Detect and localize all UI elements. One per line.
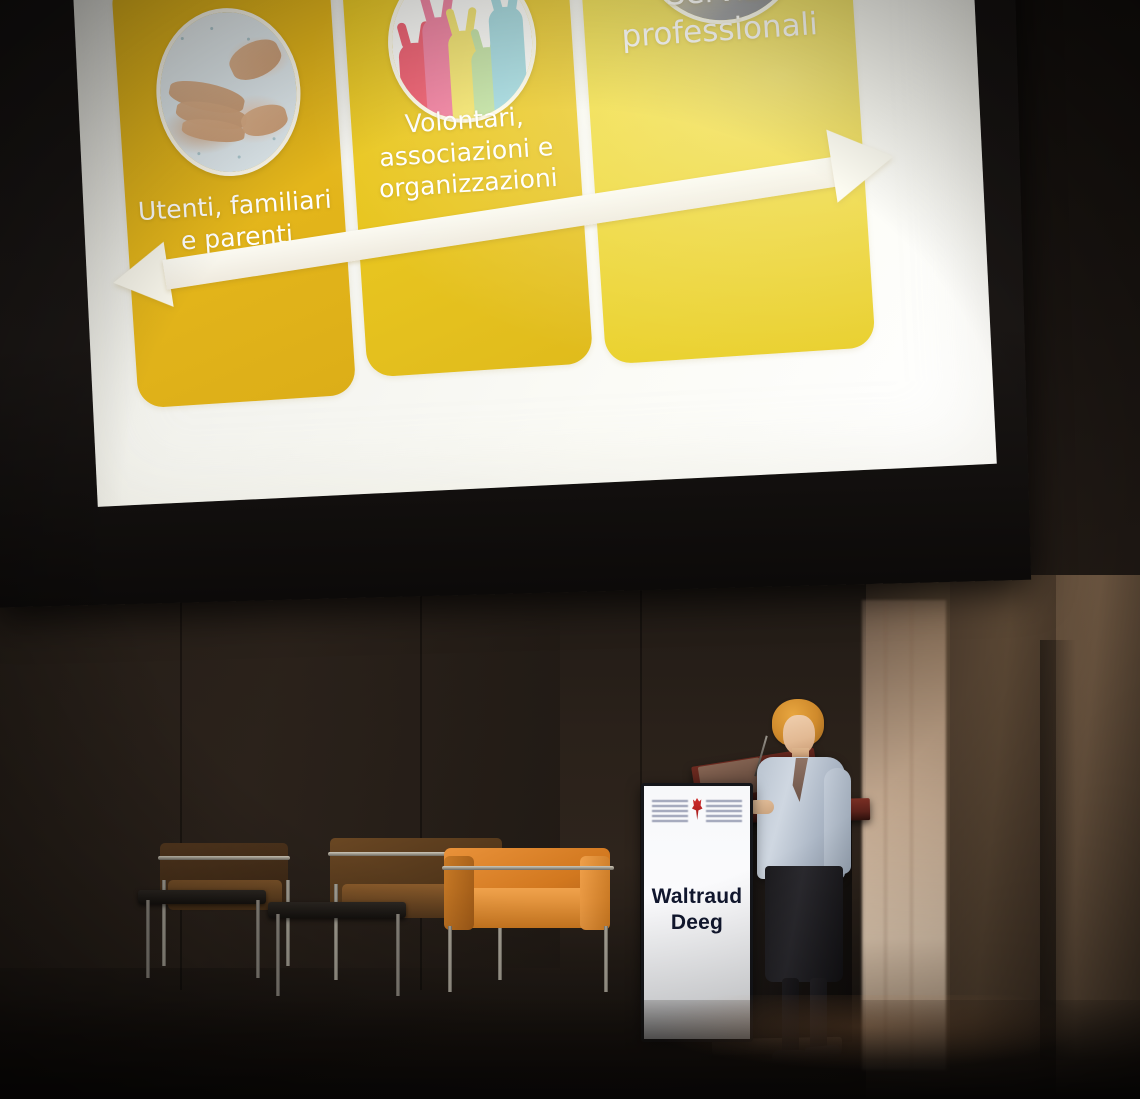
projection-screen-frame: I 3 PILASTRI DEL SOCIALE bbox=[0, 0, 1031, 608]
presentation-scene-photo: I 3 PILASTRI DEL SOCIALE bbox=[0, 0, 1140, 1099]
logo-text-right bbox=[706, 800, 742, 822]
projection-screen-surface: I 3 PILASTRI DEL SOCIALE bbox=[68, 0, 997, 507]
speaker-last-name: Deeg bbox=[644, 910, 750, 936]
heraldic-emblem-icon bbox=[691, 798, 703, 820]
presentation-slide: I 3 PILASTRI DEL SOCIALE bbox=[68, 0, 997, 507]
pillars-card-group: Utenti, familiari e parenti bbox=[68, 0, 997, 507]
logo-text-left bbox=[652, 800, 688, 822]
elderly-hands-photo bbox=[151, 4, 306, 181]
arrow-head-left-icon bbox=[108, 242, 173, 316]
wall-seam bbox=[180, 590, 182, 990]
stage-floor-reflection bbox=[560, 995, 1120, 1099]
pillar-card-3-label: Servizi professionali bbox=[581, 0, 856, 59]
wall-seam bbox=[420, 590, 422, 990]
speaker-first-name: Waltraud bbox=[644, 884, 750, 910]
organization-logo bbox=[644, 796, 750, 830]
speaker-skirt bbox=[765, 866, 843, 982]
arrow-head-right-icon bbox=[826, 120, 899, 203]
speaker-name-label: Waltraud Deeg bbox=[644, 884, 750, 935]
speaker-right-arm bbox=[824, 768, 851, 874]
